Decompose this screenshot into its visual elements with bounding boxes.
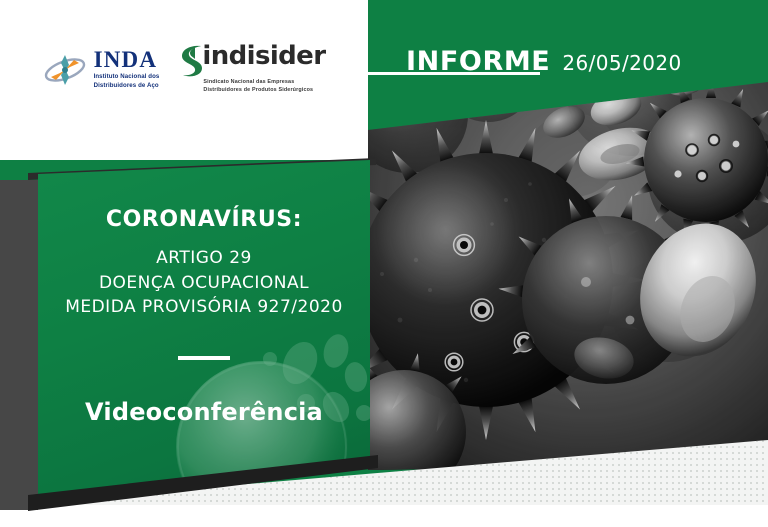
page-bottom-plain [0,505,768,527]
informe-underline [368,72,540,75]
panel-text-block: CORONAVÍRUS: ARTIGO 29 DOENÇA OCUPACIONA… [38,160,370,507]
inda-logo: INDA Instituto Nacional dos Distribuidor… [43,48,160,89]
coronavirus-panel: CORONAVÍRUS: ARTIGO 29 DOENÇA OCUPACIONA… [38,160,370,507]
informe-header: INFORME 26/05/2020 [368,36,768,86]
panel-divider [178,356,230,360]
atom-swoosh-icon [43,49,87,89]
sindisider-logo: indisider Sindicato Nacional das Empresa… [181,44,325,95]
sindisider-subtitle-line1: Sindicato Nacional das Empresas [203,79,313,87]
sindisider-s-icon [181,44,203,78]
panel-line-2: DOENÇA OCUPACIONAL [99,271,309,296]
panel-line-1: ARTIGO 29 [156,246,252,271]
sindisider-subtitle-line2: Distribuidores de Produtos Siderúrgicos [203,87,313,95]
panel-heading: CORONAVÍRUS: [106,208,302,232]
logo-bar: INDA Instituto Nacional dos Distribuidor… [0,0,368,160]
panel-line-3: MEDIDA PROVISÓRIA 927/2020 [65,295,343,320]
informe-date: 26/05/2020 [562,51,681,75]
inda-wordmark: INDA [94,48,160,71]
left-gray-rail [0,180,38,510]
inda-subtitle-line1: Instituto Nacional dos [94,73,160,81]
banner-canvas: INFORME 26/05/2020 INDA Instituto Naci [0,0,768,527]
sindisider-wordmark: indisider [202,44,325,68]
inda-subtitle-line2: Distribuidores de Aço [94,82,160,90]
panel-subtitle: Videoconferência [85,398,323,426]
